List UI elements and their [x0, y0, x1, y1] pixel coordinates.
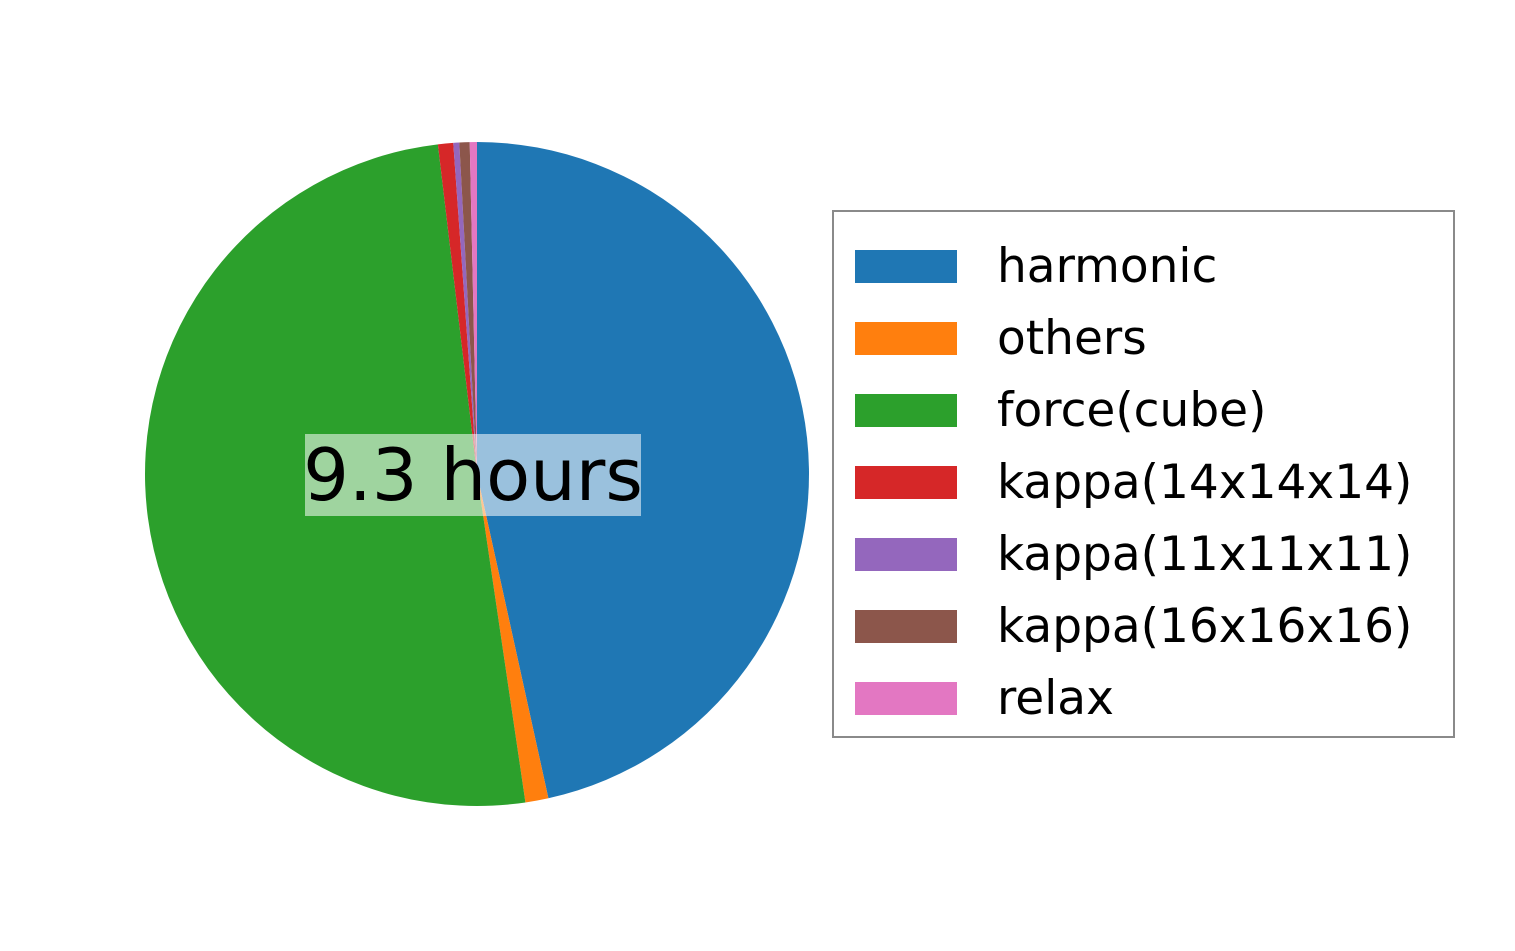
legend-color-swatch — [855, 538, 957, 571]
legend-item-label: harmonic — [997, 243, 1217, 290]
legend-item-label: kappa(11x11x11) — [997, 531, 1412, 578]
pie-chart-figure: 9.3 hours harmonicothersforce(cube)kappa… — [0, 0, 1515, 951]
legend-item[interactable]: force(cube) — [834, 374, 1453, 446]
legend-color-swatch — [855, 466, 957, 499]
legend-color-swatch — [855, 394, 957, 427]
legend-item[interactable]: kappa(14x14x14) — [834, 446, 1453, 518]
legend-item-label: relax — [997, 675, 1114, 722]
legend-item-label: force(cube) — [997, 387, 1266, 434]
pie-center-label: 9.3 hours — [305, 434, 641, 516]
legend-item-label: others — [997, 315, 1147, 362]
legend-item-label: kappa(14x14x14) — [997, 459, 1412, 506]
legend-item[interactable]: others — [834, 302, 1453, 374]
legend-item[interactable]: kappa(16x16x16) — [834, 590, 1453, 662]
legend-color-swatch — [855, 682, 957, 715]
legend-item[interactable]: kappa(11x11x11) — [834, 518, 1453, 590]
legend-color-swatch — [855, 250, 957, 283]
legend-item-list: harmonicothersforce(cube)kappa(14x14x14)… — [834, 212, 1453, 736]
legend-color-swatch — [855, 322, 957, 355]
legend-item-label: kappa(16x16x16) — [997, 603, 1412, 650]
legend-item[interactable]: relax — [834, 662, 1453, 734]
legend-box: harmonicothersforce(cube)kappa(14x14x14)… — [832, 210, 1455, 738]
legend-color-swatch — [855, 610, 957, 643]
legend-item[interactable]: harmonic — [834, 230, 1453, 302]
